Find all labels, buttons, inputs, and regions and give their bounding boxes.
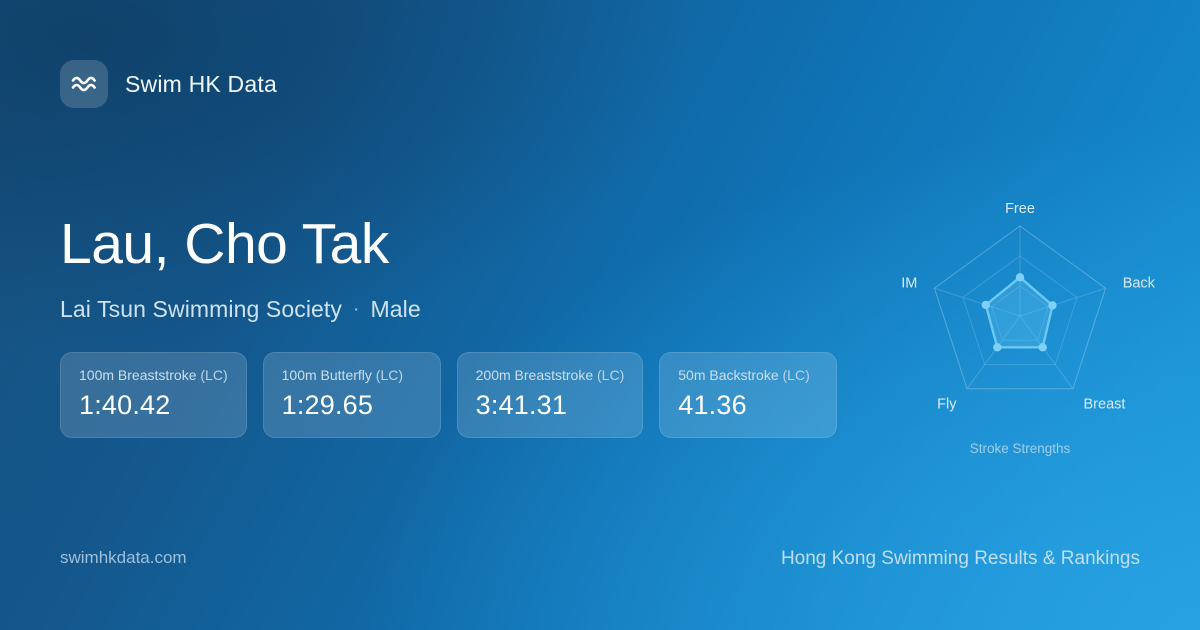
- radar-axis-label-fly: Fly: [937, 396, 957, 412]
- radar-series-area: [986, 277, 1053, 347]
- radar-axis-label-breast: Breast: [1084, 396, 1126, 412]
- radar-data-point: [982, 301, 990, 309]
- chart-caption: Stroke Strengths: [869, 441, 1171, 456]
- event-card-time: 1:40.42: [79, 390, 228, 421]
- event-card-label: 200m Breaststroke (LC): [476, 367, 625, 383]
- event-card-label: 50m Backstroke (LC): [678, 367, 818, 383]
- event-card-course: (LC): [783, 367, 810, 383]
- event-card-course: (LC): [376, 367, 403, 383]
- athlete-club: Lai Tsun Swimming Society: [60, 296, 342, 323]
- event-card: 100m Breaststroke (LC) 1:40.42: [60, 352, 247, 438]
- radar-data-point: [1048, 301, 1056, 309]
- event-card-name: 100m Breaststroke: [79, 367, 197, 383]
- brand-lockup: Swim HK Data: [60, 60, 277, 108]
- share-card: Swim HK Data Lau, Cho Tak Lai Tsun Swimm…: [0, 0, 1200, 630]
- event-card-label: 100m Breaststroke (LC): [79, 367, 228, 383]
- event-card-name: 100m Butterfly: [282, 367, 372, 383]
- event-card-time: 1:29.65: [282, 390, 422, 421]
- event-card: 100m Butterfly (LC) 1:29.65: [263, 352, 441, 438]
- meta-separator: ·: [353, 299, 359, 321]
- event-card-name: 50m Backstroke: [678, 367, 778, 383]
- footer-tagline: Hong Kong Swimming Results & Rankings: [781, 548, 1140, 570]
- page-title: Lau, Cho Tak: [60, 215, 421, 274]
- radar-axis-label-back: Back: [1123, 276, 1156, 292]
- athlete-gender: Male: [370, 296, 420, 323]
- waves-icon: [60, 60, 108, 108]
- event-card-label: 100m Butterfly (LC): [282, 367, 422, 383]
- athlete-header: Lau, Cho Tak Lai Tsun Swimming Society ·…: [60, 215, 421, 323]
- event-card-time: 3:41.31: [476, 390, 625, 421]
- footer-site-url: swimhkdata.com: [60, 548, 187, 568]
- event-card: 50m Backstroke (LC) 41.36: [659, 352, 837, 438]
- athlete-meta: Lai Tsun Swimming Society · Male: [60, 296, 421, 323]
- radar-data-point: [1016, 273, 1024, 281]
- radar-axis-label-free: Free: [1005, 201, 1035, 217]
- radar-data-point: [993, 343, 1001, 351]
- event-card-course: (LC): [597, 367, 624, 383]
- radar-data-point: [1039, 343, 1047, 351]
- event-card-course: (LC): [200, 367, 227, 383]
- brand-name: Swim HK Data: [125, 71, 277, 98]
- radar-axis-label-im: IM: [901, 276, 917, 292]
- event-card: 200m Breaststroke (LC) 3:41.31: [457, 352, 644, 438]
- best-times-list: 100m Breaststroke (LC) 1:40.42 100m Butt…: [60, 352, 837, 438]
- event-card-time: 41.36: [678, 390, 818, 421]
- event-card-name: 200m Breaststroke: [476, 367, 594, 383]
- stroke-strengths-radar-chart: FreeBackBreastFlyIM Stroke Strengths: [869, 170, 1171, 470]
